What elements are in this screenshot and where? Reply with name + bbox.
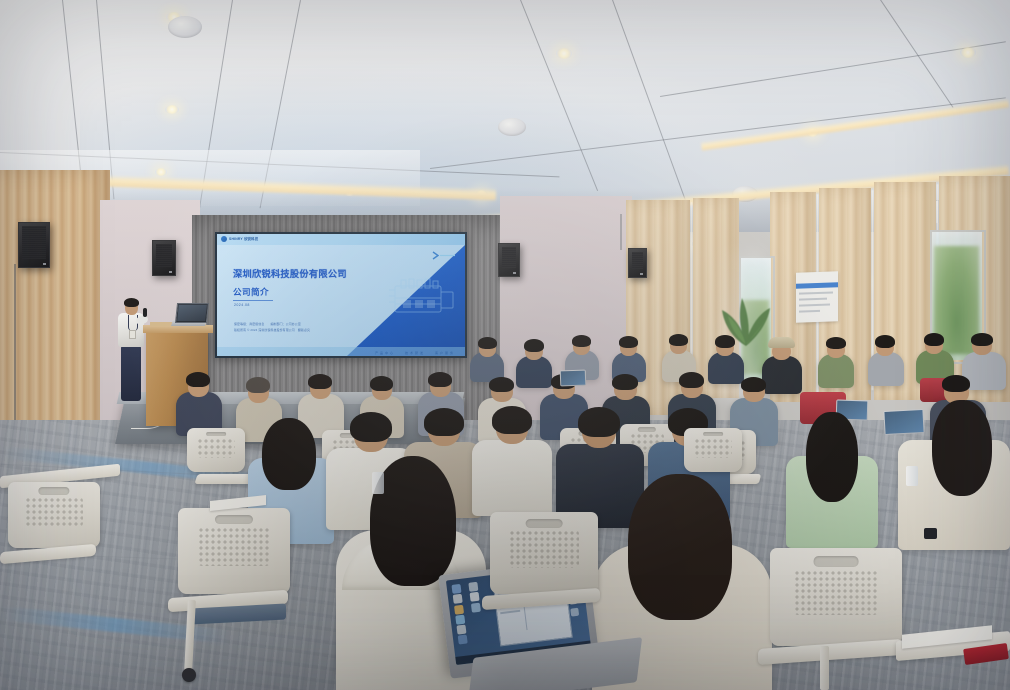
conference-room-photo: SHINRY 欣锐科技: [0, 0, 1010, 690]
audience-person: [818, 354, 854, 388]
laptop-icon: [883, 409, 924, 435]
ceiling-speaker-icon: [498, 118, 526, 136]
audience-hair: [971, 333, 993, 346]
chair-back: [8, 482, 100, 548]
audience-person: [868, 352, 904, 386]
audience-hair: [350, 412, 392, 442]
audience-hair: [308, 374, 332, 389]
downlight-icon: [556, 48, 572, 59]
audience-hair: [489, 377, 514, 392]
slide-content: SHINRY 欣锐科技: [217, 234, 465, 356]
audience-hair: [679, 372, 704, 388]
audience-person: [472, 440, 552, 516]
loudspeaker-icon: [498, 243, 520, 277]
audience-hair: [246, 377, 270, 393]
chair-leg: [820, 646, 829, 690]
speaker-cable: [620, 214, 622, 250]
laptop-icon: [560, 370, 587, 387]
audience-hair: [628, 474, 732, 620]
audience-hair: [932, 400, 992, 496]
audience-hair: [875, 335, 895, 348]
slide-fineprint-2: 版权所有 © 2024 深圳欣锐科技股份有限公司 翻版必究: [234, 328, 310, 332]
audience-hair: [806, 412, 858, 502]
downlight-icon: [165, 105, 179, 114]
chair-back: [490, 512, 598, 594]
slide-divider: [233, 300, 273, 301]
presenter-hair: [124, 298, 139, 307]
audience-hair: [826, 337, 846, 349]
loudspeaker-icon: [628, 248, 647, 278]
downlight-icon: [155, 168, 167, 176]
logo-mark-icon: [221, 236, 227, 242]
company-logo: SHINRY 欣锐科技: [221, 236, 258, 242]
audience-hair: [578, 407, 620, 437]
audience-hair: [715, 335, 735, 348]
audience-hair: [924, 333, 944, 346]
audience-hair: [428, 372, 452, 387]
wall-poster: [796, 271, 838, 322]
audience-hair: [370, 376, 393, 391]
microphone-icon: [143, 308, 147, 317]
audience-hair: [669, 334, 688, 346]
audience-hair: [741, 377, 766, 392]
water-bottle: [372, 472, 384, 494]
loudspeaker-icon: [152, 240, 176, 276]
logo-text: SHINRY 欣锐科技: [229, 236, 258, 241]
audience-person: [708, 352, 744, 384]
chair-back: [770, 548, 902, 646]
audience-hair: [262, 418, 316, 490]
slide-subtitle: 公司简介: [233, 286, 269, 298]
audience-hair: [478, 337, 497, 349]
presenter-badge: [129, 330, 136, 339]
audience-person: [516, 356, 552, 388]
slide-corner-mark-icon: [431, 247, 457, 256]
audience-hair: [524, 339, 544, 352]
slide-footer-text: 产品中心 技术研发 客户服务: [375, 351, 455, 355]
slide-footer-bar: 产品中心 技术研发 客户服务: [217, 347, 465, 356]
audience-hair: [186, 372, 210, 387]
slide-product-illustration: [385, 274, 459, 322]
audience-hair: [619, 336, 638, 348]
laptop-icon: [175, 303, 209, 323]
slide-date: 2024.08: [234, 303, 250, 307]
audience-hair: [942, 375, 970, 392]
presenter-legs: [121, 345, 141, 401]
audience-hair: [612, 374, 638, 390]
ceiling-speaker-icon: [168, 16, 202, 38]
downlight-icon: [960, 47, 976, 58]
chair-caster: [182, 668, 196, 682]
poster-header-bar: [796, 282, 838, 288]
water-bottle: [906, 466, 918, 486]
podium-top: [143, 325, 213, 333]
audience-person: [762, 356, 802, 394]
slide-fineprint-1: 保密等级：商密级信息 编制部门：公司办公室: [234, 322, 301, 326]
audience-hair: [572, 335, 591, 347]
cap-icon: [768, 337, 795, 348]
chair-back: [178, 508, 290, 594]
audience-hair: [492, 406, 532, 434]
slide-company-title: 深圳欣锐科技股份有限公司: [233, 266, 347, 280]
presentation-screen: SHINRY 欣锐科技: [215, 232, 467, 358]
chair-back: [187, 428, 245, 472]
audience-hair: [424, 408, 464, 436]
chair-back: [684, 428, 742, 472]
smartwatch-icon: [924, 528, 937, 539]
loudspeaker-icon: [18, 222, 50, 268]
